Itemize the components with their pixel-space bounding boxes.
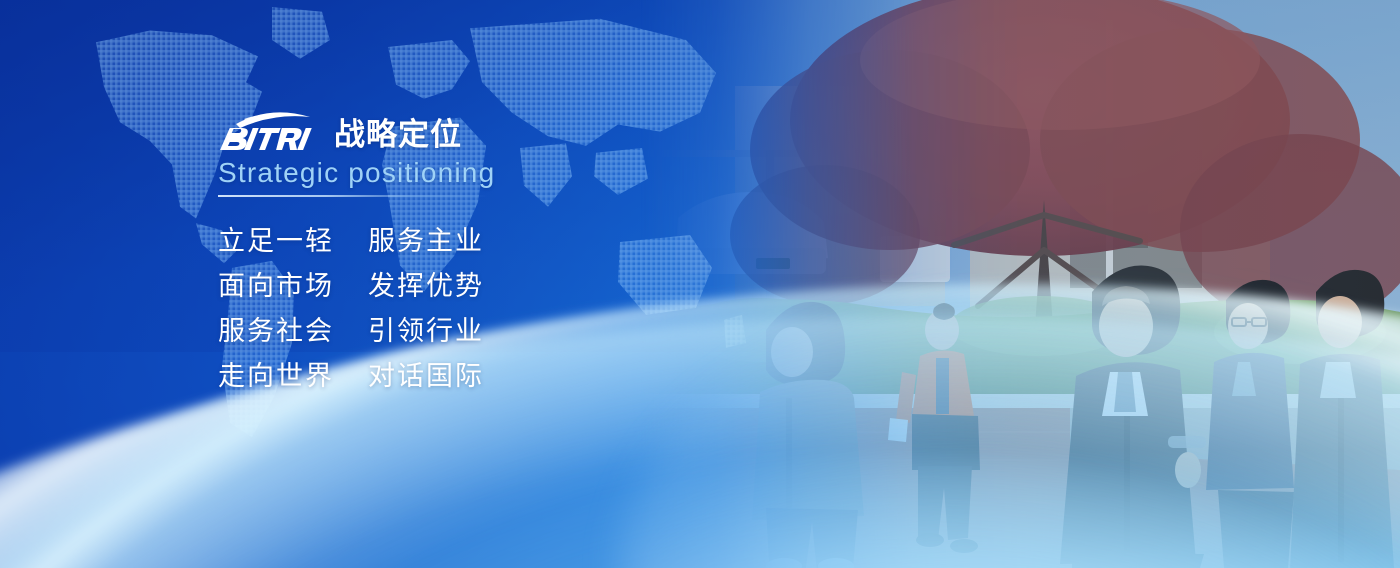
slogan-row: 面向市场 发挥优势 (218, 264, 638, 309)
slogan-list: 立足一轻 服务主业 面向市场 发挥优势 服务社会 引领行业 走向世界 对话国际 (218, 219, 638, 399)
title-row: 战略定位 (218, 104, 638, 152)
slogan-left: 服务社会 (218, 309, 336, 354)
slogan-right: 对话国际 (368, 354, 486, 399)
bitri-logo (218, 108, 321, 152)
banner-subtitle-en: Strategic positioning (218, 156, 638, 190)
slogan-right: 发挥优势 (368, 264, 486, 309)
delegation-photo (640, 0, 1400, 568)
slogan-row: 立足一轻 服务主业 (218, 219, 638, 264)
slogan-row: 走向世界 对话国际 (218, 354, 638, 399)
banner-content: 战略定位 Strategic positioning 立足一轻 服务主业 面向市… (218, 104, 638, 399)
slogan-right: 服务主业 (368, 219, 486, 264)
slogan-left: 走向世界 (218, 354, 336, 399)
slogan-left: 立足一轻 (218, 219, 336, 264)
slogan-row: 服务社会 引领行业 (218, 309, 638, 354)
title-divider (218, 195, 488, 197)
banner-title-cn: 战略定位 (334, 118, 462, 152)
slogan-left: 面向市场 (218, 264, 336, 309)
slogan-right: 引领行业 (368, 309, 486, 354)
strategic-positioning-banner: 战略定位 Strategic positioning 立足一轻 服务主业 面向市… (0, 0, 1400, 568)
